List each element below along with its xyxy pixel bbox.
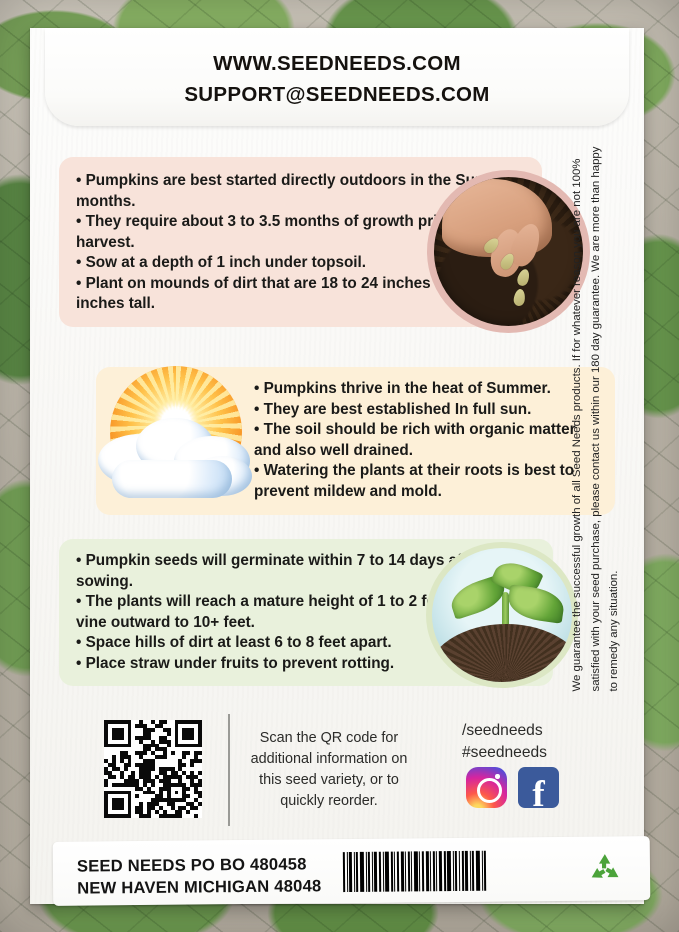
barcode-bar [391,852,393,892]
barcode-bar [356,852,358,892]
guarantee-text-block: We guarantee the successful growth of al… [553,146,639,691]
barcode-bar [349,852,352,892]
address-line-1: SEED NEEDS PO BO 480458 [77,853,321,877]
sunlight-line-1: • Pumpkins thrive in the heat of Summer. [254,379,599,400]
sun-and-clouds-image [96,360,256,512]
barcode-bar [461,851,463,891]
sunlight-line-3: • The soil should be rich with organic m… [254,420,599,461]
address-bar: SEED NEEDS PO BO 480458 NEW HAVEN MICHIG… [53,836,651,906]
social-icons: f [466,767,559,808]
footer-divider [228,714,230,826]
cloud-icon [112,460,232,498]
barcode-bar [476,851,480,891]
barcode-bar [425,851,428,891]
barcode-bar [408,851,410,891]
seed-packet: WWW.SEEDNEEDS.COM SUPPORT@SEEDNEEDS.COM … [30,28,644,904]
barcode-bar [455,851,457,891]
seed-shape [516,268,532,288]
barcode-bar [447,851,451,891]
qr-caption: Scan the QR code for additional informat… [240,728,418,812]
barcode-bar [439,851,442,891]
barcode-bar [372,852,373,892]
barcode-bar [481,851,482,891]
barcode-bar [354,852,355,892]
barcode-bar [405,851,406,891]
sunlight-line-2: • They are best established In full sun. [254,400,599,421]
barcode-bar [394,852,395,892]
barcode-bar [400,852,403,892]
barcode-bar [459,851,460,891]
barcode-bar [436,851,437,891]
barcode-bar [443,851,445,891]
social-hashtag: #seedneeds [462,742,547,764]
website-text: WWW.SEEDNEEDS.COM [30,48,644,79]
facebook-glyph: f [518,776,559,808]
barcode-bar [433,851,435,891]
packet-header: WWW.SEEDNEEDS.COM SUPPORT@SEEDNEEDS.COM [30,48,644,110]
barcode-bar [385,852,389,892]
instagram-icon[interactable] [466,767,507,808]
email-text: SUPPORT@SEEDNEEDS.COM [30,79,644,110]
social-handle: /seedneeds [462,720,547,742]
barcode-bar [453,851,454,891]
barcode-bar [365,852,366,892]
barcode-bar [397,852,399,892]
facebook-icon[interactable]: f [518,767,559,808]
seed-shape [513,288,526,306]
barcode-bar [374,852,377,892]
barcode-bar [419,851,420,891]
barcode-bar [360,852,364,892]
barcode-bar [465,851,468,891]
qr-code[interactable] [104,720,202,818]
barcode-bar [484,851,486,891]
product-barcode [343,850,538,892]
address-line-2: NEW HAVEN MICHIGAN 48048 [77,875,321,899]
seed-packet-scene: WWW.SEEDNEEDS.COM SUPPORT@SEEDNEEDS.COM … [0,0,679,932]
qr-cell [198,814,202,818]
return-address: SEED NEEDS PO BO 480458 NEW HAVEN MICHIG… [77,853,322,899]
barcode-bar [414,851,418,891]
barcode-bar [346,852,347,892]
barcode-bar [430,851,431,891]
barcode-bar [411,851,412,891]
barcode-bar [472,851,474,891]
barcode-bar [382,852,383,892]
social-handles: /seedneeds #seedneeds [462,720,547,763]
barcode-bar [343,852,345,892]
recycle-icon [586,850,624,888]
guarantee-text: We guarantee the successful growth of al… [568,146,623,691]
barcode-bar [470,851,471,891]
barcode-bar [379,852,381,892]
barcode-bar [368,852,370,892]
barcode-bar [422,851,424,891]
sunlight-line-4: • Watering the plants at their roots is … [254,461,599,502]
